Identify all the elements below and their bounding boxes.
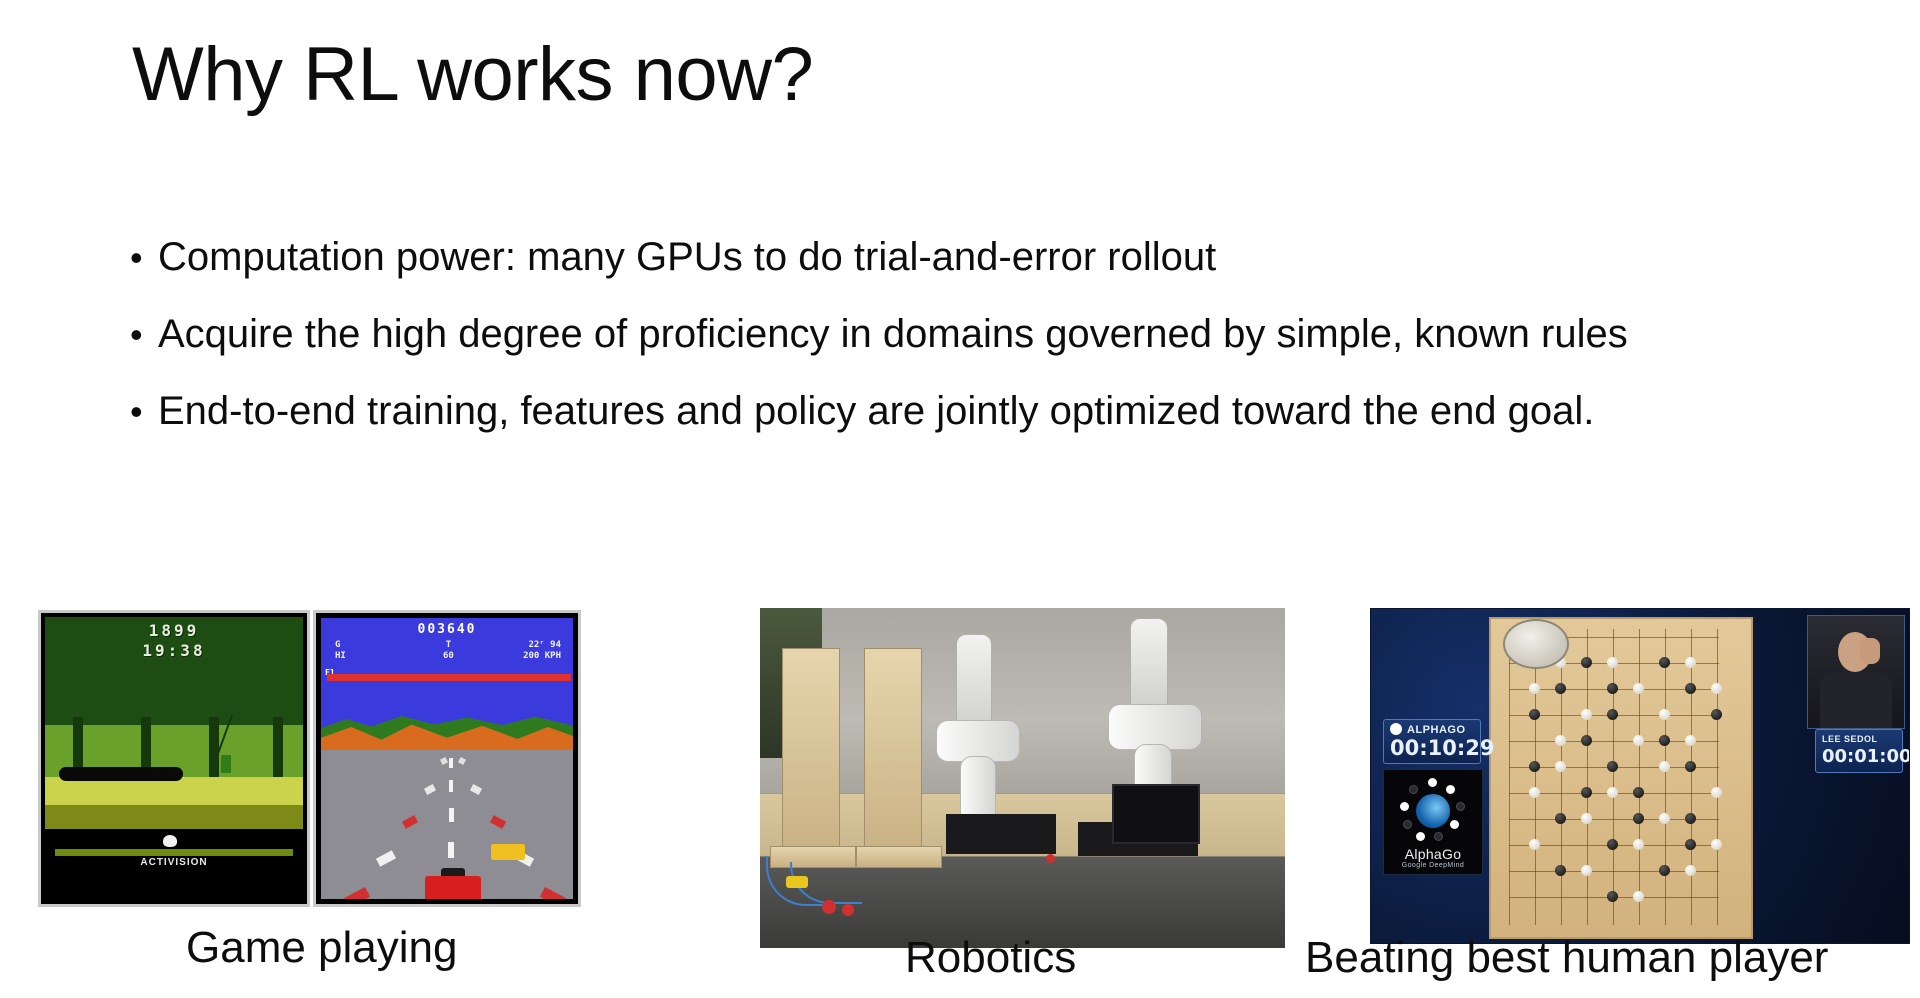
go-stone xyxy=(1659,657,1670,668)
racer-screen: 003640 G HI T 60 22ʳ 94 200 KPH F1 xyxy=(321,618,573,899)
racer-horizon-bar xyxy=(327,674,571,681)
atari-hud: 1899 19:38 xyxy=(45,621,303,660)
go-stone xyxy=(1633,787,1644,798)
alphago-clock-value: 00:10:29 xyxy=(1390,737,1474,759)
atari-log-obstacle xyxy=(59,767,183,781)
racer-center-dash xyxy=(449,780,453,792)
bullet-text: Computation power: many GPUs to do trial… xyxy=(158,228,1216,287)
go-stone xyxy=(1529,787,1540,798)
go-stone xyxy=(1607,709,1618,720)
bullet-text: Acquire the high degree of proficiency i… xyxy=(158,305,1628,364)
alphago-logo-dot xyxy=(1434,832,1443,841)
list-item: • End-to-end training, features and poli… xyxy=(126,382,1866,441)
lee-sedol-player-label: LEE SEDOL xyxy=(1822,733,1896,746)
go-stone xyxy=(1659,813,1670,824)
alphago-logo-icon xyxy=(1400,778,1466,844)
go-stone xyxy=(1607,683,1618,694)
go-stone xyxy=(1529,761,1540,772)
go-stone xyxy=(1607,787,1618,798)
racer-time-label: T xyxy=(446,640,451,650)
racer-gear-label: G xyxy=(335,640,340,650)
go-stone xyxy=(1581,813,1592,824)
racer-player-car xyxy=(425,876,481,899)
go-stone xyxy=(1555,735,1566,746)
go-stone xyxy=(1529,839,1540,850)
robotics-red-marker xyxy=(822,900,836,914)
racer-center-dash xyxy=(448,842,454,858)
atari-tree-trunk xyxy=(273,717,283,779)
atari-timer: 19:38 xyxy=(45,641,303,660)
robotics-panel-base xyxy=(856,846,942,868)
go-stone xyxy=(1581,865,1592,876)
alphago-image: ALPHAGO 00:10:29 LEE SEDOL 00:01:00 xyxy=(1370,608,1910,944)
robotics-wood-panel xyxy=(782,648,840,860)
alphago-logo-dot xyxy=(1446,785,1455,794)
caption-alphago: Beating best human player xyxy=(1305,936,1828,980)
racer-speed-value: 200 KPH xyxy=(523,651,561,661)
go-stone xyxy=(1685,761,1696,772)
racer-lap-value: 22ʳ 94 xyxy=(528,640,561,650)
alphago-logo-dot xyxy=(1403,820,1412,829)
go-stone xyxy=(1711,683,1722,694)
go-stone xyxy=(1529,709,1540,720)
go-grid-line xyxy=(1717,629,1718,925)
go-grid-line xyxy=(1691,629,1692,925)
go-stone xyxy=(1555,865,1566,876)
go-grid-line xyxy=(1509,629,1510,925)
bullet-marker-icon: • xyxy=(126,305,158,364)
atari-path-shadow xyxy=(45,805,303,829)
go-grid-line xyxy=(1561,629,1562,925)
robotics-equipment-box xyxy=(946,814,1056,854)
player-camera-inset xyxy=(1807,615,1905,729)
figure-strip: 1899 19:38 ACTIVISION xyxy=(0,608,1920,998)
go-stone xyxy=(1711,839,1722,850)
go-stone xyxy=(1529,683,1540,694)
go-grid-line xyxy=(1587,629,1588,925)
racer-lap-readout: 22ʳ 94 200 KPH xyxy=(523,640,561,662)
go-stone xyxy=(1607,761,1618,772)
go-stone xyxy=(1581,657,1592,668)
lee-sedol-clock: LEE SEDOL 00:01:00 xyxy=(1815,729,1903,773)
lee-sedol-clock-value: 00:01:00 xyxy=(1822,746,1896,768)
go-grid-line xyxy=(1665,629,1666,925)
go-stone xyxy=(1659,761,1670,772)
go-stone xyxy=(1607,657,1618,668)
go-grid-line xyxy=(1613,629,1614,925)
go-stone xyxy=(1633,735,1644,746)
go-stone xyxy=(1633,813,1644,824)
go-stone xyxy=(1581,735,1592,746)
go-stone-bowl xyxy=(1503,619,1569,669)
robot-arm-column-left xyxy=(956,634,992,732)
list-item: • Acquire the high degree of proficiency… xyxy=(126,305,1866,364)
go-stone xyxy=(1633,839,1644,850)
go-stone xyxy=(1633,891,1644,902)
alphago-clock: ALPHAGO 00:10:29 xyxy=(1383,719,1481,764)
player-body xyxy=(1820,672,1892,728)
bullet-text: End-to-end training, features and policy… xyxy=(158,382,1594,441)
go-stone xyxy=(1685,735,1696,746)
player-hand xyxy=(1860,638,1880,664)
go-stone xyxy=(1633,683,1644,694)
alphago-logo-dot xyxy=(1456,802,1465,811)
go-stone xyxy=(1685,683,1696,694)
bullet-marker-icon: • xyxy=(126,382,158,441)
go-stone xyxy=(1607,839,1618,850)
alphago-logo-dot xyxy=(1400,802,1409,811)
alphago-logo-core xyxy=(1416,794,1450,828)
robotics-red-marker xyxy=(842,904,854,916)
robotics-monitor xyxy=(1112,784,1200,844)
go-stone xyxy=(1659,735,1670,746)
robotics-wood-panel xyxy=(864,648,922,860)
robotics-yellow-block xyxy=(786,876,808,888)
alphago-logo-dot xyxy=(1409,785,1418,794)
go-stone xyxy=(1555,761,1566,772)
atari-tree-trunk xyxy=(209,717,219,779)
slide-canvas: Why RL works now? • Computation power: m… xyxy=(0,0,1920,998)
alphago-logo-dot xyxy=(1450,820,1459,829)
racing-game-image: 003640 G HI T 60 22ʳ 94 200 KPH F1 xyxy=(313,610,581,907)
robot-arm-column-right xyxy=(1130,618,1168,712)
go-stone xyxy=(1555,683,1566,694)
racer-gear-value: HI xyxy=(335,651,346,661)
go-stone xyxy=(1685,839,1696,850)
racer-center-dash xyxy=(449,758,453,768)
atari-score: 1899 xyxy=(45,621,303,640)
atari-game-image: 1899 19:38 ACTIVISION xyxy=(38,610,310,907)
activision-mark-icon xyxy=(163,835,177,847)
go-stone xyxy=(1711,709,1722,720)
racer-center-dash xyxy=(449,808,454,822)
go-stone xyxy=(1685,865,1696,876)
list-item: • Computation power: many GPUs to do tri… xyxy=(126,228,1866,287)
page-title: Why RL works now? xyxy=(132,32,813,117)
alphago-logo-dot xyxy=(1428,778,1437,787)
racer-score: 003640 xyxy=(321,622,573,637)
go-stone xyxy=(1685,813,1696,824)
go-stone xyxy=(1581,709,1592,720)
activision-bar xyxy=(55,849,293,856)
alphago-logo-sub: Google DeepMind xyxy=(1384,862,1482,869)
robotics-image xyxy=(760,608,1285,948)
atari-player-sprite xyxy=(221,755,231,773)
racer-time-readout: T 60 xyxy=(443,640,454,662)
go-stone xyxy=(1581,787,1592,798)
caption-game-playing: Game playing xyxy=(186,926,457,970)
go-grid-line xyxy=(1535,629,1536,925)
racer-gear-readout: G HI xyxy=(335,640,346,662)
alphago-logo-dot xyxy=(1416,832,1425,841)
go-stone xyxy=(1555,813,1566,824)
go-stone xyxy=(1685,657,1696,668)
go-stone xyxy=(1607,891,1618,902)
go-stone xyxy=(1659,865,1670,876)
go-stone xyxy=(1711,787,1722,798)
racer-obstacle-car xyxy=(491,844,525,860)
caption-robotics: Robotics xyxy=(905,936,1076,980)
go-grid-line xyxy=(1639,629,1640,925)
atari-screen: 1899 19:38 ACTIVISION xyxy=(45,617,303,900)
robotics-red-marker xyxy=(1046,854,1055,863)
bullet-list: • Computation power: many GPUs to do tri… xyxy=(126,228,1866,459)
activision-logo: ACTIVISION xyxy=(45,857,303,868)
atari-path xyxy=(45,777,303,805)
alphago-logo-name: AlphaGo xyxy=(1384,846,1482,862)
go-stone xyxy=(1659,709,1670,720)
bullet-marker-icon: • xyxy=(126,228,158,287)
alphago-player-label: ALPHAGO xyxy=(1390,723,1474,737)
alphago-logo-badge: AlphaGo Google DeepMind xyxy=(1383,769,1483,875)
racer-time-value: 60 xyxy=(443,651,454,661)
